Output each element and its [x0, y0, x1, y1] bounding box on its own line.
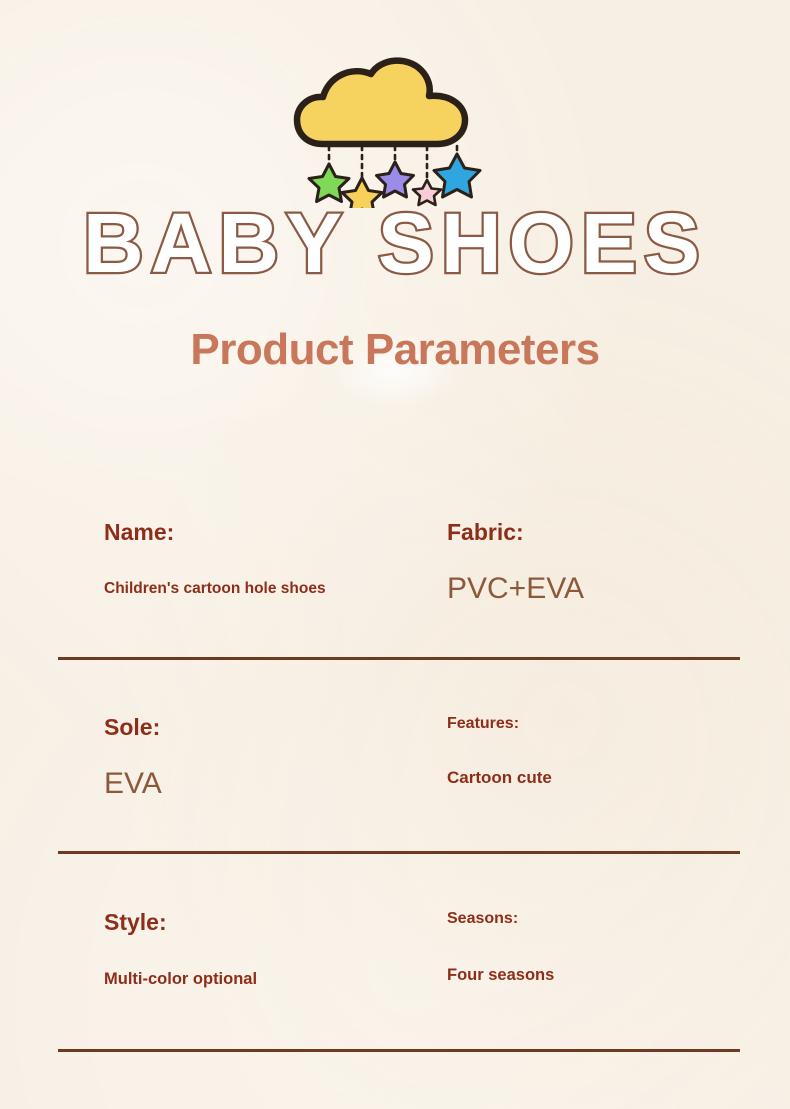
spec-label-style: Style: [104, 910, 434, 935]
divider-1 [58, 657, 740, 660]
spec-label-sole: Sole: [104, 715, 434, 740]
spec-row: Sole: EVA Features: Cartoon cute [0, 715, 790, 910]
page-subtitle: Product Parameters [0, 325, 790, 375]
product-parameters-page: BABY SHOES Product Parameters Name: Chil… [0, 0, 790, 1109]
cloud-with-hanging-stars-icon [275, 48, 515, 208]
divider-3 [58, 1049, 740, 1052]
page-title-text: BABY SHOES [83, 196, 707, 290]
spec-value-features: Cartoon cute [447, 769, 747, 788]
spec-value-name: Children's cartoon hole shoes [104, 580, 434, 597]
spec-cell-fabric: Fabric: PVC+EVA [447, 520, 747, 605]
spec-cell-features: Features: Cartoon cute [447, 715, 747, 787]
spec-cell-name: Name: Children's cartoon hole shoes [104, 520, 434, 597]
spec-row: Style: Multi-color optional Seasons: Fou… [0, 910, 790, 1105]
baby-shoes-title-art: BABY SHOES [45, 196, 745, 300]
spec-value-style: Multi-color optional [104, 970, 434, 988]
hero-illustration [0, 48, 790, 208]
page-title: BABY SHOES [0, 196, 790, 300]
spec-label-name: Name: [104, 520, 434, 545]
spec-label-seasons: Seasons: [447, 910, 747, 928]
spec-value-seasons: Four seasons [447, 966, 747, 984]
spec-cell-style: Style: Multi-color optional [104, 910, 434, 988]
spec-row: Name: Children's cartoon hole shoes Fabr… [0, 520, 790, 715]
spec-cell-seasons: Seasons: Four seasons [447, 910, 747, 984]
divider-2 [58, 851, 740, 854]
spec-value-sole: EVA [104, 767, 434, 800]
spec-cell-sole: Sole: EVA [104, 715, 434, 800]
spec-label-fabric: Fabric: [447, 520, 747, 545]
spec-label-features: Features: [447, 715, 747, 733]
specs-table: Name: Children's cartoon hole shoes Fabr… [0, 520, 790, 1105]
spec-value-fabric: PVC+EVA [447, 572, 747, 605]
